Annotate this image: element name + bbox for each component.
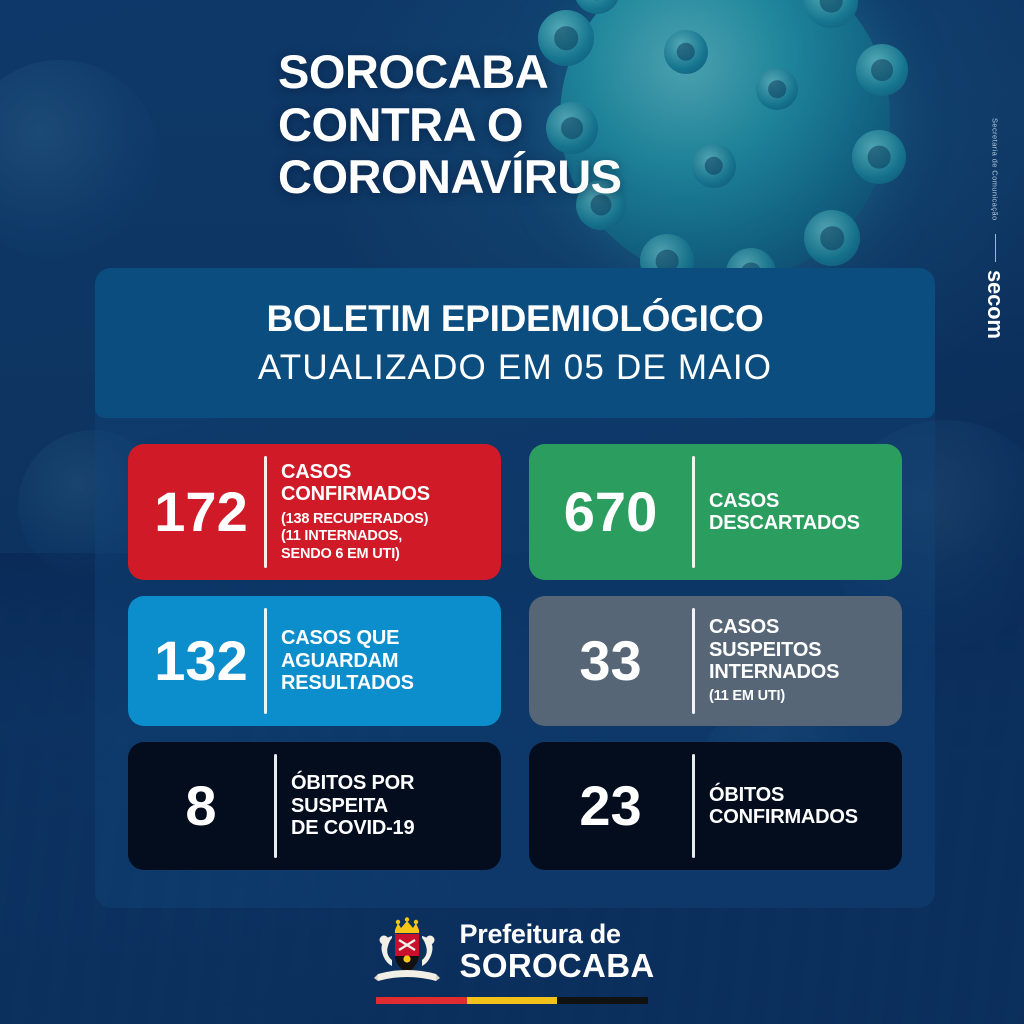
stat-label-line: ÓBITOS POR bbox=[291, 772, 414, 794]
stats-row-3: 8 ÓBITOS POR SUSPEITA DE COVID-19 23 ÓBI… bbox=[128, 742, 903, 870]
stat-label-line: AGUARDAM bbox=[281, 650, 414, 672]
stats-row-1: 172 CASOS CONFIRMADOS (138 RECUPERADOS) … bbox=[128, 444, 903, 580]
stat-label-line: CASOS QUE bbox=[281, 627, 414, 649]
stat-divider bbox=[692, 754, 695, 858]
stat-card-casos-confirmados: 172 CASOS CONFIRMADOS (138 RECUPERADOS) … bbox=[128, 444, 501, 580]
secom-sidebar: Secretaria de Comunicação secom bbox=[972, 118, 1018, 343]
stat-number: 33 bbox=[543, 633, 678, 689]
stat-text: ÓBITOS POR SUSPEITA DE COVID-19 bbox=[291, 772, 414, 839]
stat-label-line: ÓBITOS bbox=[709, 784, 858, 806]
stat-text: ÓBITOS CONFIRMADOS bbox=[709, 784, 858, 829]
headline-line-3: CORONAVÍRUS bbox=[278, 151, 622, 204]
brand-stripe bbox=[376, 997, 648, 1004]
headline-line-2: CONTRA O bbox=[278, 99, 622, 152]
stat-label-line: RESULTADOS bbox=[281, 672, 414, 694]
stat-label-line: SUSPEITA bbox=[291, 795, 414, 817]
stat-sub-line: (11 EM UTI) bbox=[709, 688, 839, 705]
stripe-yellow bbox=[467, 997, 558, 1004]
stat-text: CASOS SUSPEITOS INTERNADOS (11 EM UTI) bbox=[709, 616, 839, 706]
bulletin-header: BOLETIM EPIDEMIOLÓGICO ATUALIZADO EM 05 … bbox=[95, 268, 935, 418]
stat-number: 132 bbox=[142, 633, 260, 689]
headline-line-1: SOROCABA bbox=[278, 46, 622, 99]
secom-divider bbox=[995, 234, 996, 262]
wordmark-line-1: Prefeitura de bbox=[460, 921, 655, 949]
stat-label-line: CONFIRMADOS bbox=[281, 483, 430, 505]
stat-card-aguardam-resultados: 132 CASOS QUE AGUARDAM RESULTADOS bbox=[128, 596, 501, 726]
stat-divider bbox=[264, 608, 267, 714]
sorocaba-coat-of-arms-icon bbox=[370, 916, 444, 988]
page-title: SOROCABA CONTRA O CORONAVÍRUS bbox=[278, 46, 622, 204]
wordmark-line-2: SOROCABA bbox=[460, 949, 655, 983]
stat-divider bbox=[692, 608, 695, 714]
stat-card-obitos-confirmados: 23 ÓBITOS CONFIRMADOS bbox=[529, 742, 902, 870]
stat-divider bbox=[692, 456, 695, 568]
stat-label-line: CASOS bbox=[709, 490, 860, 512]
stat-divider bbox=[264, 456, 267, 568]
stat-number: 23 bbox=[543, 778, 678, 834]
prefeitura-wordmark: Prefeitura de SOROCABA bbox=[460, 921, 655, 982]
stat-sub-line: (138 RECUPERADOS) bbox=[281, 511, 430, 528]
stat-sub-line: SENDO 6 EM UTI) bbox=[281, 546, 430, 563]
stripe-black bbox=[557, 997, 648, 1004]
stat-label-line: CONFIRMADOS bbox=[709, 806, 858, 828]
stat-label-line: CASOS bbox=[281, 461, 430, 483]
stat-card-obitos-suspeita: 8 ÓBITOS POR SUSPEITA DE COVID-19 bbox=[128, 742, 501, 870]
stat-card-suspeitos-internados: 33 CASOS SUSPEITOS INTERNADOS (11 EM UTI… bbox=[529, 596, 902, 726]
stripe-red bbox=[376, 997, 467, 1004]
stat-sub-line: (11 INTERNADOS, bbox=[281, 528, 430, 545]
stat-label-line: INTERNADOS bbox=[709, 661, 839, 683]
bulletin-title: BOLETIM EPIDEMIOLÓGICO bbox=[266, 298, 763, 340]
stat-text: CASOS QUE AGUARDAM RESULTADOS bbox=[281, 627, 414, 694]
stat-number: 670 bbox=[543, 484, 678, 540]
stat-label-line: CASOS bbox=[709, 616, 839, 638]
stat-divider bbox=[274, 754, 277, 858]
secom-brand: secom bbox=[982, 270, 1008, 339]
secom-subtitle: Secretaria de Comunicação bbox=[991, 118, 1000, 221]
stats-grid: 172 CASOS CONFIRMADOS (138 RECUPERADOS) … bbox=[128, 444, 903, 886]
bulletin-subtitle: ATUALIZADO EM 05 DE MAIO bbox=[258, 348, 772, 388]
stats-row-2: 132 CASOS QUE AGUARDAM RESULTADOS 33 CAS… bbox=[128, 596, 903, 726]
prefeitura-logo-lockup: Prefeitura de SOROCABA bbox=[370, 916, 655, 988]
stat-card-casos-descartados: 670 CASOS DESCARTADOS bbox=[529, 444, 902, 580]
stat-label-line: DE COVID-19 bbox=[291, 817, 414, 839]
stat-text: CASOS CONFIRMADOS (138 RECUPERADOS) (11 … bbox=[281, 461, 430, 563]
stat-label-line: SUSPEITOS bbox=[709, 639, 839, 661]
stat-number: 172 bbox=[142, 484, 260, 540]
stat-number: 8 bbox=[142, 778, 260, 834]
footer: Prefeitura de SOROCABA bbox=[0, 916, 1024, 1004]
stat-text: CASOS DESCARTADOS bbox=[709, 490, 860, 535]
stat-label-line: DESCARTADOS bbox=[709, 512, 860, 534]
